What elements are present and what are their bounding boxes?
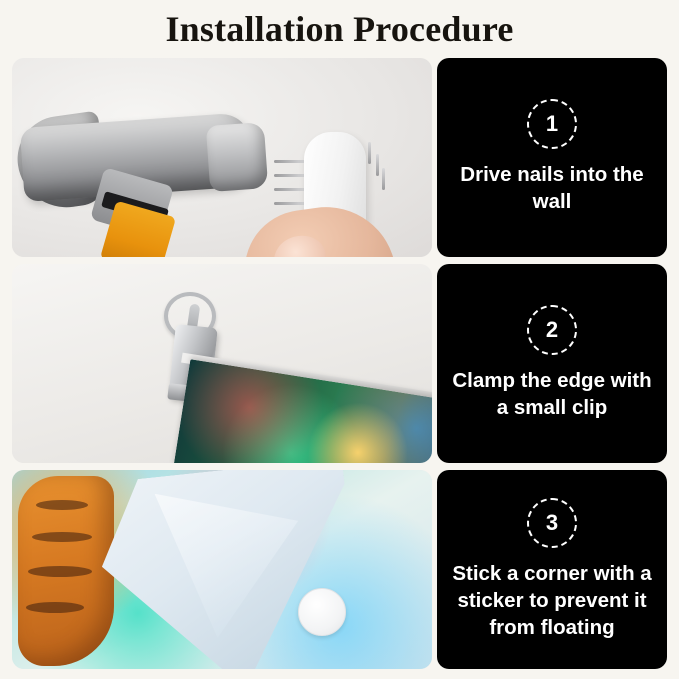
- installation-procedure-page: Installation Procedure: [0, 0, 679, 679]
- step-2-number-badge: 2: [527, 305, 577, 355]
- page-title: Installation Procedure: [0, 0, 679, 58]
- step-2-text: Clamp the edge with a small clip: [450, 367, 655, 421]
- adhesive-sticker: [298, 588, 346, 636]
- hook-pin-3: [382, 168, 385, 190]
- step-1-panel: 1 Drive nails into the wall: [437, 58, 667, 257]
- hook-pin-2: [376, 154, 379, 176]
- steps-list: 1 Drive nails into the wall 2 Clamp the …: [0, 58, 679, 669]
- hook-pin-1: [368, 142, 371, 164]
- step-1-number-badge: 1: [527, 99, 577, 149]
- step-3-panel: 3 Stick a corner with a sticker to preve…: [437, 470, 667, 669]
- step-2-photo: [12, 264, 432, 463]
- step-3-number-badge: 3: [527, 498, 577, 548]
- step-3-text: Stick a corner with a sticker to prevent…: [450, 560, 655, 641]
- tiger-stripe-1: [36, 500, 88, 510]
- step-row-3: 3 Stick a corner with a sticker to preve…: [12, 470, 667, 669]
- step-row-2: 2 Clamp the edge with a small clip: [12, 264, 667, 463]
- tiger-stripe-2: [32, 532, 92, 542]
- tiger-stripe-3: [28, 566, 92, 577]
- step-2-panel: 2 Clamp the edge with a small clip: [437, 264, 667, 463]
- step-1-text: Drive nails into the wall: [450, 161, 655, 215]
- step-3-photo: [12, 470, 432, 669]
- step-row-1: 1 Drive nails into the wall: [12, 58, 667, 257]
- hammer-face: [206, 122, 268, 192]
- step-1-photo: [12, 58, 432, 257]
- tiger-stripe-4: [26, 602, 84, 613]
